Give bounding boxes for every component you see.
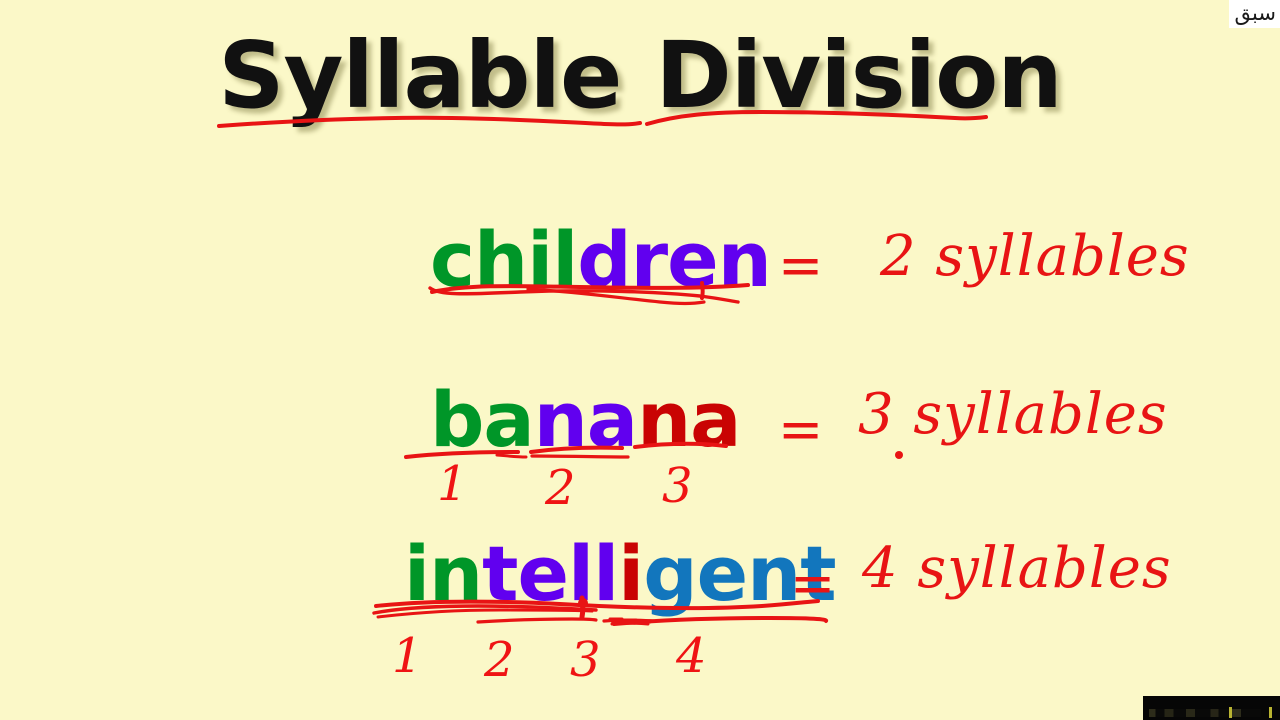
overlay-tick-1 [1229,707,1232,718]
answer-banana: 3 syllables [858,382,1168,447]
page-title: SyllableDivision [0,22,1280,129]
overlay-tick-2 [1269,707,1272,718]
syllable-chil: chil [430,215,577,304]
title-word-syllable: Syllable [218,22,621,129]
syllable-dren: dren [577,215,771,304]
example-row-banana: banana = 3 syllables 1 2 3 [0,374,1280,494]
bottom-right-overlay-strip [1143,696,1280,720]
numeral-banana-3: 3 [662,462,693,510]
syllable-ba: ba [430,375,534,464]
numeral-banana-2: 2 [545,464,576,512]
word-intelligent: intelligent [404,536,836,612]
overlay-texture [1149,709,1261,717]
numeral-intelligent-4: 4 [676,632,707,680]
answer-children: 2 syllables [880,224,1190,289]
numeral-intelligent-2: 2 [484,636,515,684]
example-row-children: children = 2 syllables [0,212,1280,332]
equals-sign-banana: = [778,398,823,461]
slide-canvas: SyllableDivision children = 2 syllables … [0,0,1280,720]
word-children: children [430,222,771,298]
watermark-arabic: سبق [1229,0,1280,28]
syllable-tell: tell [482,529,618,618]
syllable-na-1: na [534,375,637,464]
numeral-intelligent-3: 3 [570,636,601,684]
numeral-banana-1: 1 [437,460,468,508]
answer-intelligent: 4 syllables [862,536,1172,601]
equals-sign-intelligent: = [790,552,835,615]
syllable-na-2: na [637,375,740,464]
equals-sign-children: = [778,234,823,297]
example-row-intelligent: intelligent = 4 syllables 1 2 3 4 [0,530,1280,650]
numeral-intelligent-1: 1 [392,632,423,680]
syllable-i: i [618,529,643,618]
title-word-division: Division [655,22,1061,129]
syllable-in: in [404,529,482,618]
word-banana: banana [430,382,740,458]
